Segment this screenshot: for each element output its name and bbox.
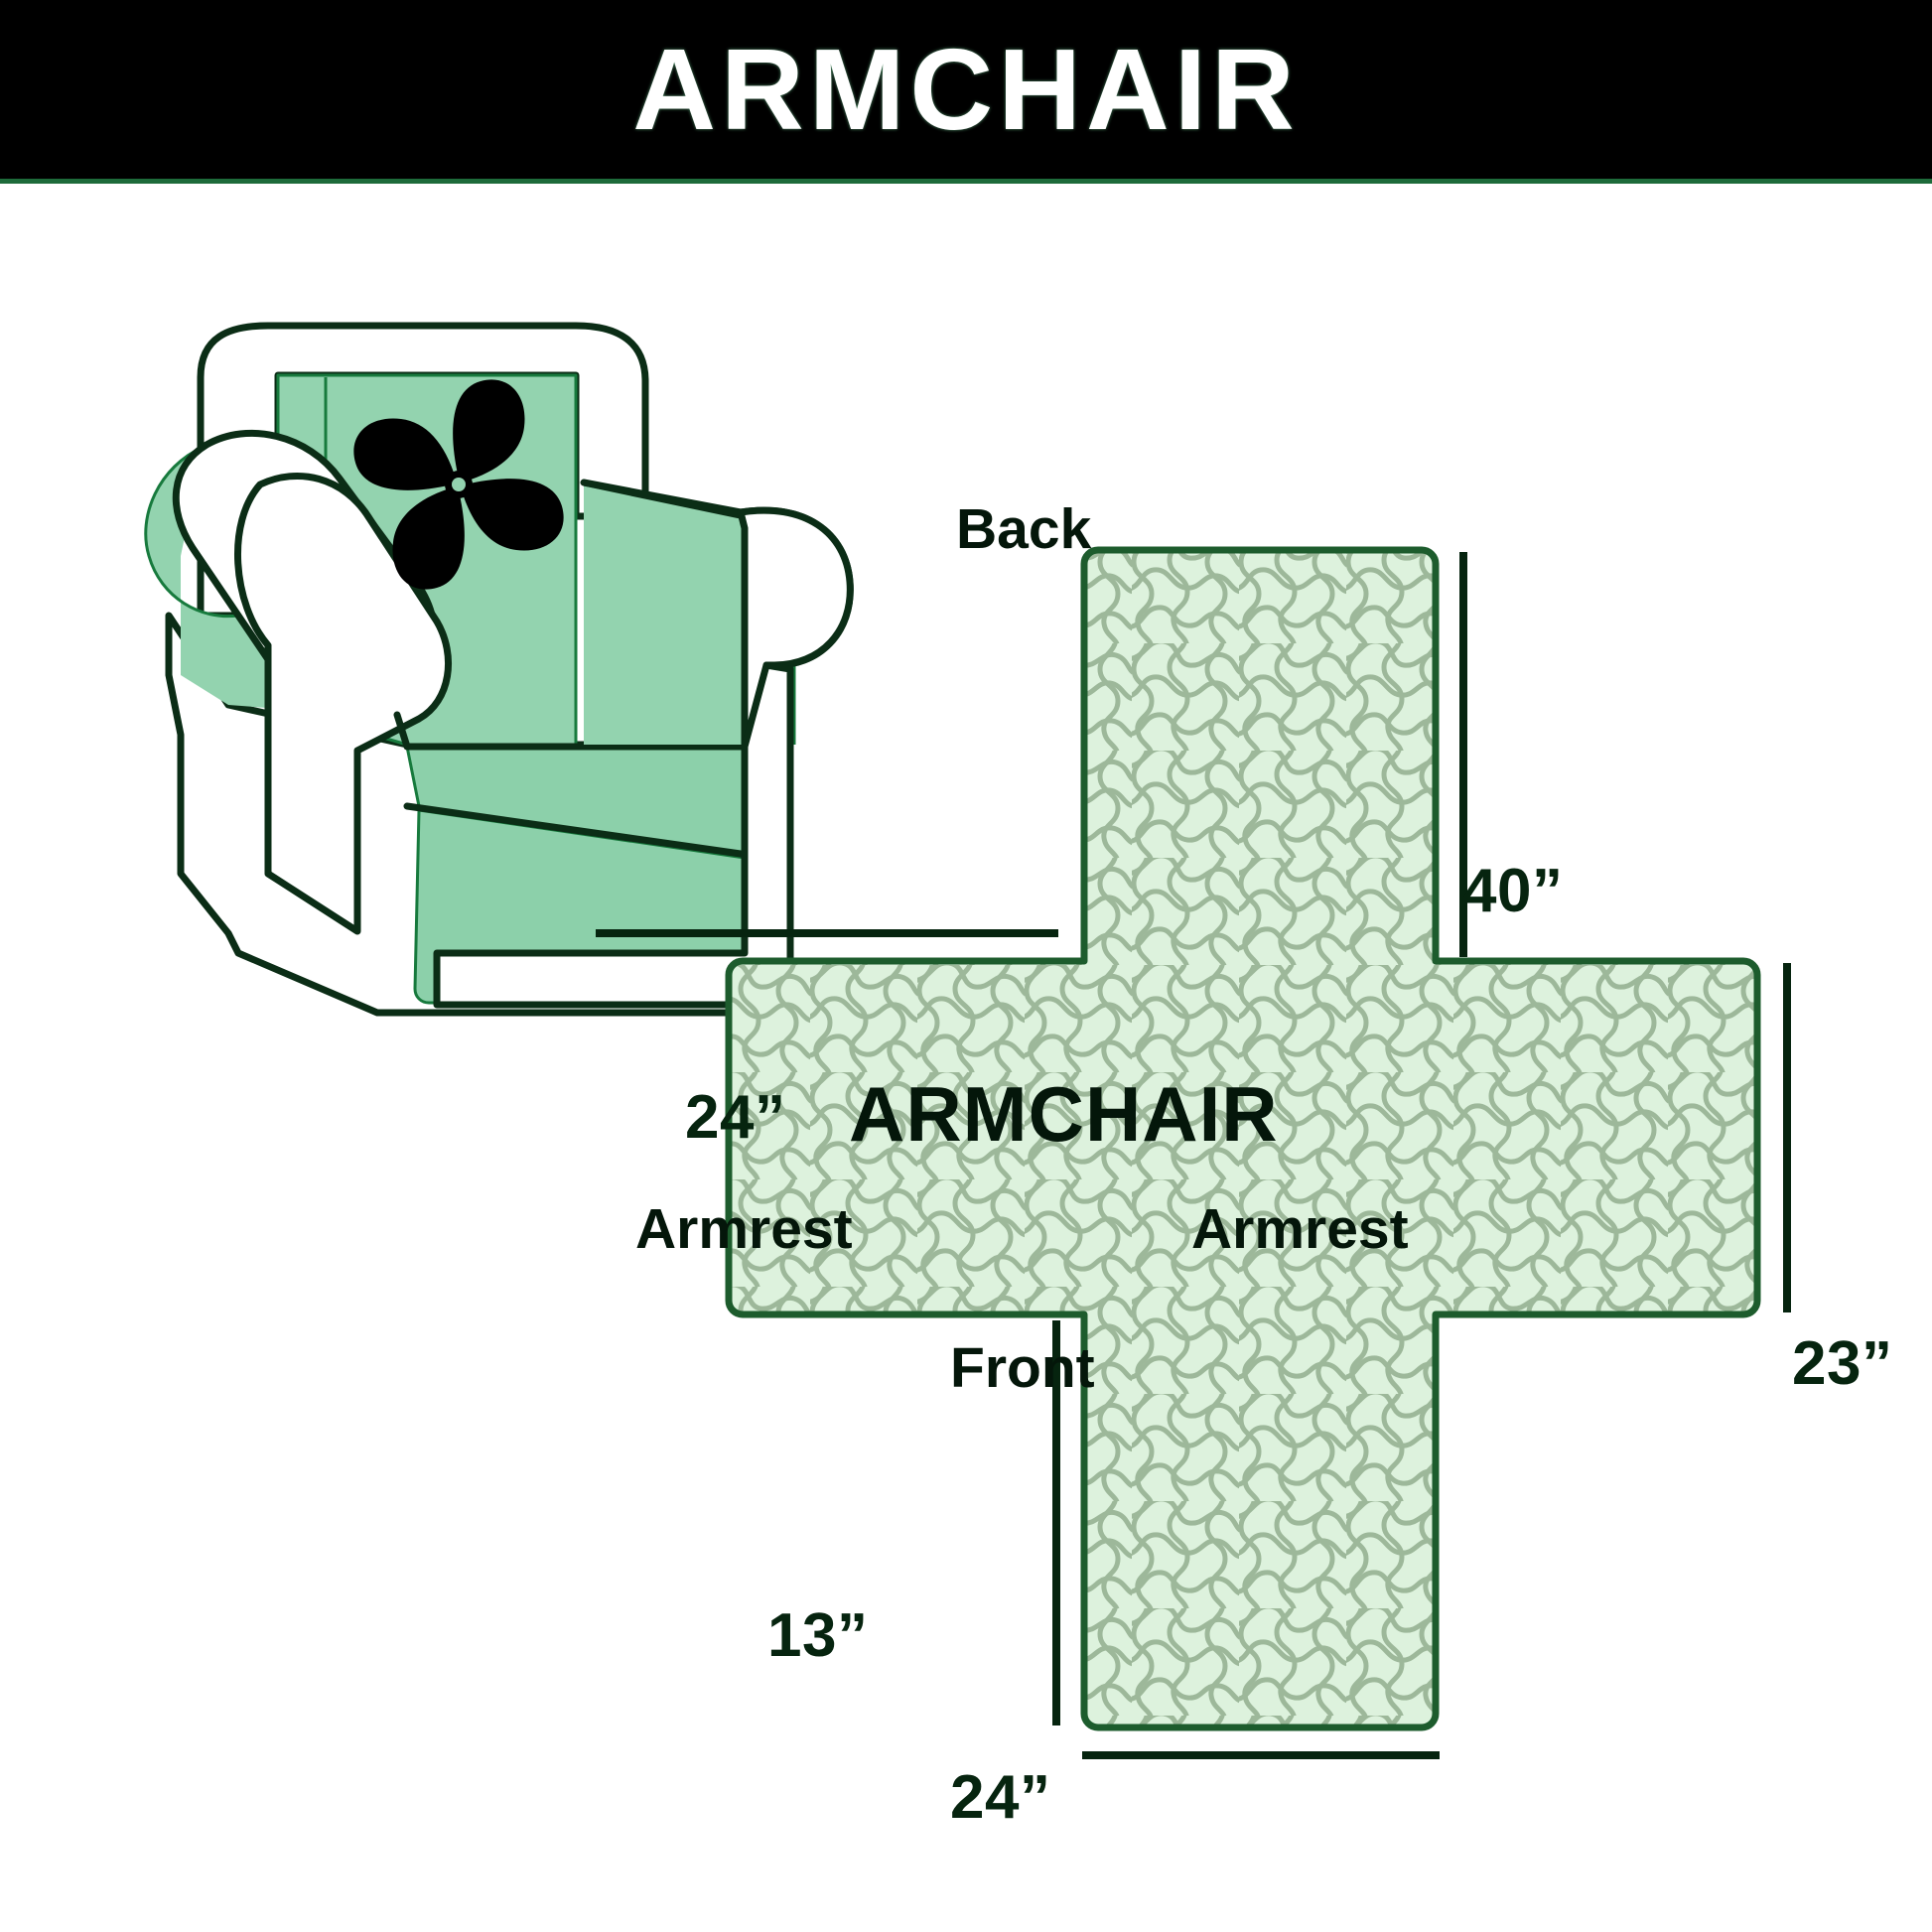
panel-label-armchair: ARMCHAIR [849,1069,1279,1160]
dimension-label-back-height: 40” [1462,856,1563,926]
page-root: ARMCHAIR .ol{fill:none;stroke:#0b2d16;st… [0,0,1932,1932]
panel-label-back: Back [956,496,1091,562]
dimension-label-front-width: 24” [950,1762,1050,1833]
dimension-label-back-width: 24” [685,1082,785,1153]
panel-label-armrest-left: Armrest [635,1196,853,1262]
dimension-label-front-height: 13” [767,1600,868,1671]
header-bar: ARMCHAIR [0,0,1932,179]
header-underline [0,179,1932,184]
panel-label-armrest-right: Armrest [1191,1196,1409,1262]
page-title: ARMCHAIR [632,32,1300,147]
panel-label-front: Front [950,1335,1095,1401]
dimension-label-armrest-depth: 23” [1792,1328,1892,1399]
